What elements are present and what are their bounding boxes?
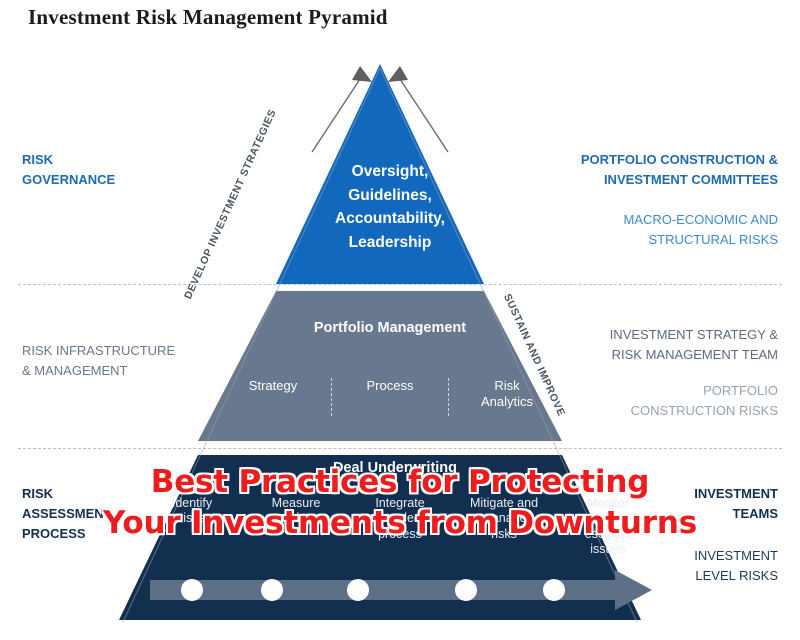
- step-line: process: [350, 527, 450, 542]
- label-investment-level-risks: INVESTMENT LEVEL RISKS: [694, 546, 778, 586]
- label-line: INVESTMENT COMMITTEES: [581, 170, 778, 190]
- progress-node: [455, 579, 477, 601]
- label-line: ASSESSMENT: [22, 504, 112, 524]
- step-identify-risks: Identify risks: [140, 496, 244, 557]
- step-line: risks: [454, 527, 554, 542]
- tier-management-column-strategy: Strategy: [215, 378, 331, 394]
- column-label-line-1: Risk: [449, 378, 565, 394]
- progress-node: [347, 579, 369, 601]
- label-line: MACRO-ECONOMIC AND: [623, 210, 778, 230]
- progress-node: [181, 579, 203, 601]
- label-investment-teams: INVESTMENT TEAMS: [694, 484, 778, 524]
- label-line: RISK: [22, 150, 115, 170]
- label-line: RISK MANAGEMENT TEAM: [610, 345, 778, 365]
- step-integrate-into-deal-process: Integrate into deal process: [348, 496, 452, 557]
- step-line: risks: [246, 511, 346, 526]
- label-portfolio-construction: PORTFOLIO CONSTRUCTION & INVESTMENT COMM…: [581, 150, 778, 190]
- column-label: Process: [332, 378, 448, 394]
- label-line: INVESTMENT: [694, 484, 778, 504]
- label-risk-governance: RISK GOVERNANCE: [22, 150, 115, 190]
- step-line: escalate: [558, 527, 658, 542]
- step-line: Integrate: [350, 496, 450, 511]
- step-mitigate-manage-risks: Mitigate and manage risks: [452, 496, 556, 557]
- label-line: INVESTMENT STRATEGY &: [610, 325, 778, 345]
- label-line: RISK INFRASTRUCTURE: [22, 341, 175, 361]
- step-line: Identify: [142, 496, 242, 511]
- label-line: INVESTMENT: [694, 546, 778, 566]
- label-risk-infrastructure: RISK INFRASTRUCTURE & MANAGEMENT: [22, 341, 175, 381]
- column-label-line-2: Analytics: [449, 394, 565, 410]
- label-line: GOVERNANCE: [22, 170, 115, 190]
- tier-management-column-risk-analytics: Risk Analytics: [449, 378, 565, 409]
- label-investment-strategy-team: INVESTMENT STRATEGY & RISK MANAGEMENT TE…: [610, 325, 778, 365]
- label-line: CONSTRUCTION RISKS: [631, 401, 778, 421]
- pyramid-infographic: Investment Risk Management Pyramid: [0, 0, 800, 640]
- progress-node: [543, 579, 565, 601]
- step-measure-risks: Measure risks: [244, 496, 348, 557]
- step-line: manage: [454, 511, 554, 526]
- label-line: LEVEL RISKS: [694, 566, 778, 586]
- step-line: and/or: [558, 511, 658, 526]
- tier-management-column-process: Process: [332, 378, 448, 394]
- label-risk-assessment-process: RISK ASSESSMENT PROCESS: [22, 484, 112, 544]
- label-line: PROCESS: [22, 524, 112, 544]
- step-line: Measure: [246, 496, 346, 511]
- step-line: issues: [558, 542, 658, 557]
- step-line: into deal: [350, 511, 450, 526]
- step-line: Monitor: [558, 496, 658, 511]
- step-line: risks: [142, 511, 242, 526]
- tier-governance-shape: [276, 64, 484, 284]
- progress-node: [261, 579, 283, 601]
- step-line: Mitigate and: [454, 496, 554, 511]
- column-label: Strategy: [215, 378, 331, 394]
- label-line: PORTFOLIO: [631, 381, 778, 401]
- label-macro-economic-risks: MACRO-ECONOMIC AND STRUCTURAL RISKS: [623, 210, 778, 250]
- label-line: STRUCTURAL RISKS: [623, 230, 778, 250]
- label-line: RISK: [22, 484, 112, 504]
- label-line: & MANAGEMENT: [22, 361, 175, 381]
- step-monitor-escalate-issues: Monitor and/or escalate issues: [556, 496, 660, 557]
- label-line: TEAMS: [694, 504, 778, 524]
- label-portfolio-construction-risks: PORTFOLIO CONSTRUCTION RISKS: [631, 381, 778, 421]
- tier-management-columns: Strategy Process Risk Analytics: [215, 378, 565, 416]
- tier-management-shape: [198, 291, 562, 441]
- underwriting-steps: Identify risks Measure risks Integrate i…: [140, 496, 660, 557]
- label-line: PORTFOLIO CONSTRUCTION &: [581, 150, 778, 170]
